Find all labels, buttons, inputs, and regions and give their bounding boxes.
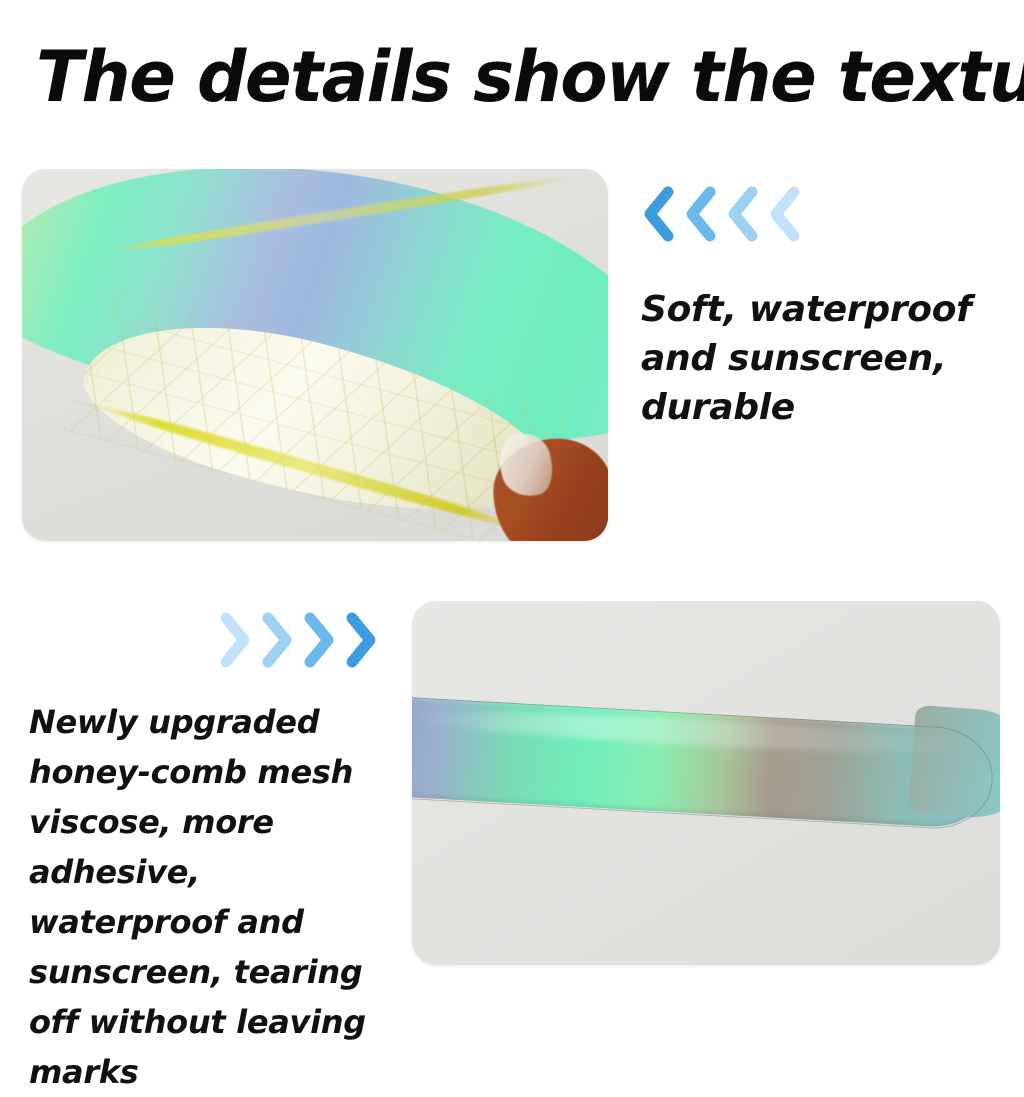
photo-scene-bottom (412, 601, 1000, 965)
feature-caption-bottom-text: Newly upgraded honey-comb mesh viscose, … (29, 697, 404, 1097)
holographic-tape-loop-photo (22, 169, 608, 541)
chevron-right-icon (214, 612, 254, 668)
chevron-right-icon (256, 612, 296, 668)
feature-caption-top-text: Soft, waterproof and sunscreen, durable (641, 285, 1001, 432)
chevron-left-icon (764, 186, 804, 242)
chevron-arrows-left (638, 186, 804, 242)
holographic-tape-strip-photo (412, 601, 1000, 965)
chevron-left-icon (722, 186, 762, 242)
chevron-arrows-right (214, 612, 380, 668)
feature-caption-bottom: Newly upgraded honey-comb mesh viscose, … (29, 697, 404, 1097)
page-title: The details show the texture (36, 38, 982, 116)
photo-scene-top (22, 169, 608, 541)
chevron-left-icon (680, 186, 720, 242)
chevron-right-icon (340, 612, 380, 668)
feature-caption-top: Soft, waterproof and sunscreen, durable (641, 285, 1001, 432)
chevron-left-icon (638, 186, 678, 242)
chevron-right-icon (298, 612, 338, 668)
